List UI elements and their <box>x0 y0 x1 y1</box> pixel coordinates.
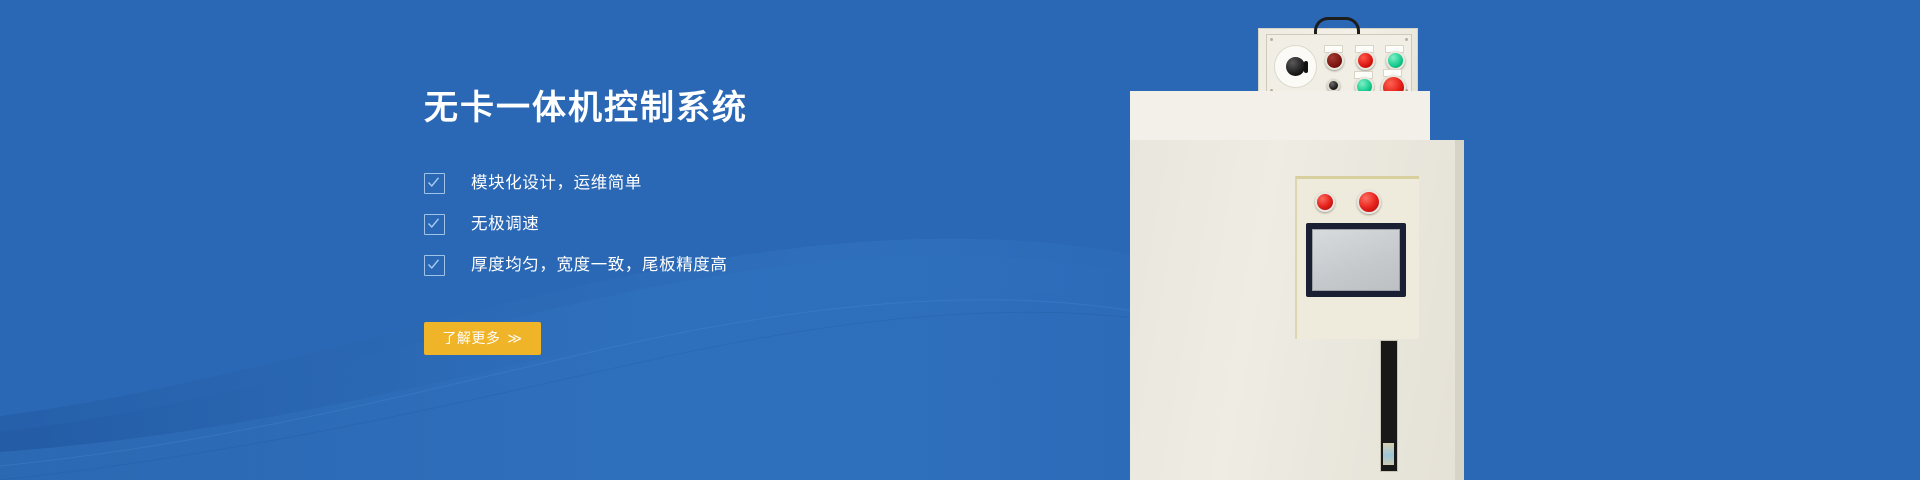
hero-banner: 无卡一体机控制系统 模块化设计，运维简单 无极调速 <box>0 0 1920 480</box>
cabinet-top-cap <box>1130 91 1430 143</box>
double-chevron-right-icon: ≫ <box>507 330 522 347</box>
screw-icon <box>1270 38 1273 41</box>
cabinet-body <box>1130 140 1464 480</box>
knob-stem-icon <box>1304 61 1308 73</box>
hero-content: 无卡一体机控制系统 模块化设计，运维简单 无极调速 <box>424 88 1044 355</box>
indicator-red[interactable] <box>1356 51 1375 70</box>
panel-button-red-large[interactable] <box>1357 190 1381 214</box>
rotary-selector-dial[interactable] <box>1274 45 1317 88</box>
product-image <box>1130 0 1550 480</box>
hmi-screen-surface <box>1312 229 1400 291</box>
panel-button-red-small[interactable] <box>1315 192 1335 212</box>
list-item: 模块化设计，运维简单 <box>424 173 1044 194</box>
list-item: 厚度均匀，宽度一致，尾板精度高 <box>424 255 1044 276</box>
feature-label: 无极调速 <box>471 216 539 233</box>
checkbox-checked-icon <box>424 255 445 276</box>
control-box-faceplate <box>1266 34 1412 96</box>
hmi-touchscreen[interactable] <box>1306 223 1406 297</box>
rotary-selector-knob[interactable] <box>1286 57 1305 76</box>
feature-label: 模块化设计，运维简单 <box>471 175 642 192</box>
learn-more-label: 了解更多 <box>442 328 500 348</box>
checkbox-checked-icon <box>424 173 445 194</box>
page-title: 无卡一体机控制系统 <box>424 88 1044 129</box>
feature-list: 模块化设计，运维简单 无极调速 厚度均匀，宽度一致，尾板精度高 <box>424 173 1044 276</box>
list-item: 无极调速 <box>424 214 1044 235</box>
checkbox-checked-icon <box>424 214 445 235</box>
feature-label: 厚度均匀，宽度一致，尾板精度高 <box>471 257 728 274</box>
door-lock-strip[interactable] <box>1380 340 1398 472</box>
control-box <box>1258 28 1418 100</box>
indicator-green[interactable] <box>1386 51 1405 70</box>
cabinet-right-edge <box>1455 140 1464 480</box>
screw-icon <box>1405 38 1408 41</box>
door-lock-tag-icon <box>1383 443 1394 465</box>
learn-more-button[interactable]: 了解更多 ≫ <box>424 322 541 355</box>
indicator-dark-red[interactable] <box>1325 51 1344 70</box>
hmi-panel <box>1295 176 1419 339</box>
